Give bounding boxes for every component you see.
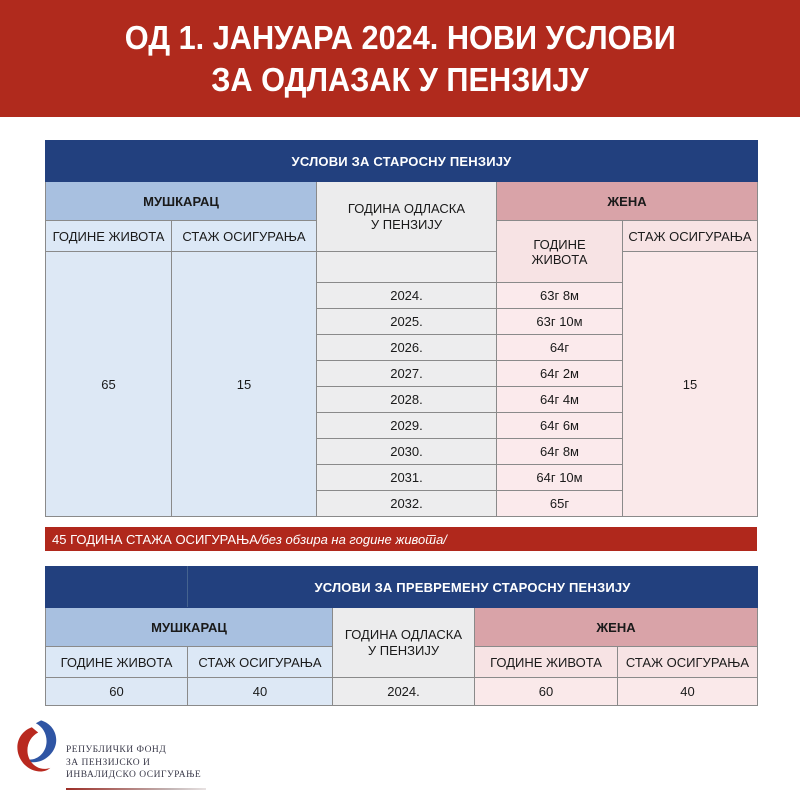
retirement-year-cell: 2030. xyxy=(317,439,497,465)
female-group-header: ЖЕНА xyxy=(497,182,758,221)
retirement-year-cell: 2025. xyxy=(317,309,497,335)
male-group-header: МУШКАРАЦ xyxy=(46,182,317,221)
table-row-gender-band: МУШКАРАЦ ГОДИНА ОДЛАСКА У ПЕНЗИЈУ ЖЕНА xyxy=(46,608,758,647)
female-age-header-line-1: ГОДИНЕ xyxy=(497,237,622,252)
male-age-column-header: ГОДИНЕ ЖИВОТА xyxy=(46,647,188,678)
retirement-year-cell: 2027. xyxy=(317,361,497,387)
retirement-year-cell: 2032. xyxy=(317,491,497,517)
pension-fund-swirl-icon xyxy=(8,718,66,776)
table-row-title: УСЛОВИ ЗА ПРЕВРЕМЕНУ СТАРОСНУ ПЕНЗИЈУ xyxy=(46,567,758,608)
male-age-cell: 60 xyxy=(46,678,188,706)
year-of-retirement-header: ГОДИНА ОДЛАСКА У ПЕНЗИЈУ xyxy=(317,182,497,252)
female-age-cell: 64г 10м xyxy=(497,465,623,491)
header-title-line-1: ОД 1. ЈАНУАРА 2024. НОВИ УСЛОВИ xyxy=(124,17,675,59)
logo-text-block: РЕПУБЛИЧКИ ФОНД ЗА ПЕНЗИЈСКО И ИНВАЛИДСК… xyxy=(66,744,201,782)
female-age-cell: 64г 4м xyxy=(497,387,623,413)
female-age-header-line-2: ЖИВОТА xyxy=(497,252,622,267)
old-age-pension-table: УСЛОВИ ЗА СТАРОСНУ ПЕНЗИЈУ МУШКАРАЦ ГОДИ… xyxy=(45,140,757,517)
note-main-text: 45 ГОДИНА СТАЖА ОСИГУРАЊА xyxy=(52,532,258,547)
female-age-cell: 64г 2м xyxy=(497,361,623,387)
early-title-blank-cell xyxy=(46,567,188,608)
note-italic-text: /без обзира на године живота/ xyxy=(258,532,447,547)
female-age-cell: 60 xyxy=(475,678,618,706)
year-header-line-1: ГОДИНА ОДЛАСКА xyxy=(333,627,474,643)
female-group-header: ЖЕНА xyxy=(475,608,758,647)
male-service-value: 15 xyxy=(172,252,317,517)
male-service-column-header: СТАЖ ОСИГУРАЊА xyxy=(188,647,333,678)
rfzo-logo: РЕПУБЛИЧКИ ФОНД ЗА ПЕНЗИЈСКО И ИНВАЛИДСК… xyxy=(8,718,223,798)
retirement-year-cell: 2026. xyxy=(317,335,497,361)
early-pension-table: УСЛОВИ ЗА ПРЕВРЕМЕНУ СТАРОСНУ ПЕНЗИЈУ МУ… xyxy=(45,566,757,706)
male-service-column-header: СТАЖ ОСИГУРАЊА xyxy=(172,221,317,252)
logo-underline xyxy=(66,788,206,790)
retirement-year-cell: 2031. xyxy=(317,465,497,491)
logo-line-1: РЕПУБЛИЧКИ ФОНД xyxy=(66,744,201,757)
female-age-cell: 63г 8м xyxy=(497,283,623,309)
female-age-cell: 64г 8м xyxy=(497,439,623,465)
male-service-cell: 40 xyxy=(188,678,333,706)
female-service-column-header: СТАЖ ОСИГУРАЊА xyxy=(623,221,758,252)
service-years-note: 45 ГОДИНА СТАЖА ОСИГУРАЊА /без обзира на… xyxy=(45,527,757,551)
table-row-title: УСЛОВИ ЗА СТАРОСНУ ПЕНЗИЈУ xyxy=(46,141,758,182)
female-age-column-header: ГОДИНЕ ЖИВОТА xyxy=(497,221,623,283)
table-row-gender-band: МУШКАРАЦ ГОДИНА ОДЛАСКА У ПЕНЗИЈУ ЖЕНА xyxy=(46,182,758,221)
female-age-cell: 64г xyxy=(497,335,623,361)
retirement-year-cell: 2024. xyxy=(333,678,475,706)
retirement-year-cell: 2028. xyxy=(317,387,497,413)
year-header-line-2: У ПЕНЗИЈУ xyxy=(333,643,474,659)
header-title-line-2: ЗА ОДЛАЗАК У ПЕНЗИЈУ xyxy=(211,59,588,101)
early-table-title: УСЛОВИ ЗА ПРЕВРЕМЕНУ СТАРОСНУ ПЕНЗИЈУ xyxy=(188,567,758,608)
year-header-line-2: У ПЕНЗИЈУ xyxy=(317,217,496,233)
female-age-column-header: ГОДИНЕ ЖИВОТА xyxy=(475,647,618,678)
old-age-table-title: УСЛОВИ ЗА СТАРОСНУ ПЕНЗИЈУ xyxy=(46,141,758,182)
female-service-value: 15 xyxy=(623,252,758,517)
female-age-cell: 63г 10м xyxy=(497,309,623,335)
retirement-year-cell: 2024. xyxy=(317,283,497,309)
year-spacer-cell xyxy=(317,252,497,283)
female-service-column-header: СТАЖ ОСИГУРАЊА xyxy=(618,647,758,678)
retirement-year-cell: 2029. xyxy=(317,413,497,439)
header-banner: ОД 1. ЈАНУАРА 2024. НОВИ УСЛОВИ ЗА ОДЛАЗ… xyxy=(0,0,800,117)
male-group-header: МУШКАРАЦ xyxy=(46,608,333,647)
male-age-value: 65 xyxy=(46,252,172,517)
table-row: 60 40 2024. 60 40 xyxy=(46,678,758,706)
logo-line-3: ИНВАЛИДСКО ОСИГУРАЊЕ xyxy=(66,769,201,782)
table-row-merged-values: 65 15 15 xyxy=(46,252,758,283)
year-of-retirement-header: ГОДИНА ОДЛАСКА У ПЕНЗИЈУ xyxy=(333,608,475,678)
logo-line-2: ЗА ПЕНЗИЈСКО И xyxy=(66,757,201,770)
female-age-cell: 64г 6м xyxy=(497,413,623,439)
male-age-column-header: ГОДИНЕ ЖИВОТА xyxy=(46,221,172,252)
female-service-cell: 40 xyxy=(618,678,758,706)
year-header-line-1: ГОДИНА ОДЛАСКА xyxy=(317,201,496,217)
female-age-cell: 65г xyxy=(497,491,623,517)
